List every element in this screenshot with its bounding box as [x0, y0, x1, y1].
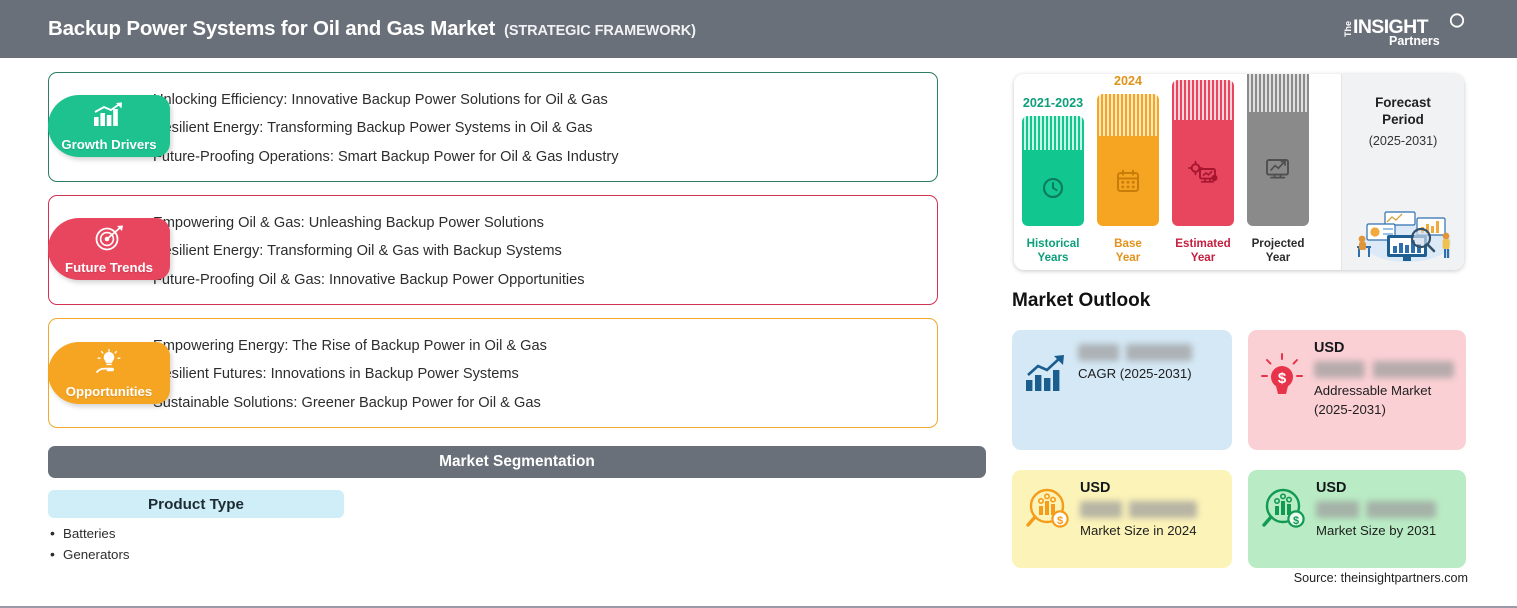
forecast-title-line1: Forecast: [1342, 95, 1464, 112]
bar-body: [1172, 80, 1234, 226]
badge-label: Future Trends: [65, 261, 153, 275]
outlook-card-addressable-market[interactable]: $ USD Addressable Market (2025-2031): [1248, 330, 1466, 450]
bar-caption-line2: Years: [1027, 251, 1080, 264]
outlook-card-value-blurred: [1080, 501, 1197, 518]
badge-label: Growth Drivers: [61, 138, 156, 152]
estimate-gear-icon: [1188, 160, 1218, 186]
bar-solid-segment: [1172, 120, 1234, 226]
bar-solid-segment: [1247, 112, 1309, 226]
outlook-card-value-blurred: [1316, 501, 1436, 518]
dollar-bulb-icon: $: [1260, 340, 1304, 419]
market-segmentation-title: Market Segmentation: [439, 453, 595, 471]
bar-body: [1022, 116, 1084, 226]
bar-stripe-segment: [1247, 74, 1309, 112]
logo-partners-text: Partners: [1389, 34, 1440, 48]
growth-drivers-card: Unlocking Efficiency: Innovative Backup …: [48, 72, 938, 182]
svg-text:$: $: [1293, 515, 1299, 527]
forecast-period-range: (2025-2031): [1342, 134, 1464, 148]
outlook-card-value-blurred: [1078, 344, 1192, 361]
page-title: Backup Power Systems for Oil and Gas Mar…: [48, 17, 495, 41]
list-item: Future-Proofing Oil & Gas: Innovative Ba…: [153, 266, 937, 294]
outlook-card-label: Addressable Market (2025-2031): [1314, 382, 1454, 419]
list-item: Unlocking Efficiency: Innovative Backup …: [153, 86, 937, 114]
bar-caption: Base Year: [1114, 237, 1142, 264]
segment-chip-product-type[interactable]: Product Type: [48, 490, 344, 518]
infographic-page: Backup Power Systems for Oil and Gas Mar…: [0, 0, 1517, 608]
outlook-card-market-size-2031[interactable]: $ USD Market Size by 2031: [1248, 470, 1466, 568]
outlook-card-cagr[interactable]: CAGR (2025-2031): [1012, 330, 1232, 450]
forecast-timeline-panel: 2021-2023 Historical Years 2024: [1014, 74, 1464, 270]
badge-opportunities[interactable]: Opportunities: [48, 342, 170, 404]
bar-caption-line2: Year: [1175, 251, 1230, 264]
list-item: Batteries: [50, 524, 130, 545]
logo-the-text: The: [1343, 21, 1353, 37]
bar-caption-line2: Year: [1114, 251, 1142, 264]
history-clock-icon: [1040, 175, 1066, 201]
svg-text:$: $: [1057, 515, 1063, 527]
outlook-card-value-blurred: [1314, 361, 1454, 378]
list-item: Resilient Futures: Innovations in Backup…: [153, 360, 937, 388]
header-title-group: Backup Power Systems for Oil and Gas Mar…: [48, 17, 696, 41]
bar-caption-line2: Year: [1252, 251, 1305, 264]
bar-stripe-segment: [1172, 80, 1234, 120]
badge-label: Opportunities: [66, 385, 152, 399]
bar-year-label: 2024: [1114, 74, 1142, 88]
projection-monitor-icon: [1264, 156, 1292, 182]
bar-caption-line1: Base: [1114, 237, 1142, 250]
bar-chart-arrow-up-icon: [1024, 340, 1068, 401]
future-trends-bullet-list: Empowering Oil & Gas: Unleashing Backup …: [49, 196, 937, 307]
forecast-period-panel: Forecast Period (2025-2031): [1341, 74, 1464, 270]
bar-caption: Estimated Year: [1175, 237, 1230, 264]
bar-caption: Historical Years: [1027, 237, 1080, 264]
opportunities-card: Empowering Energy: The Rise of Backup Po…: [48, 318, 938, 428]
bar-caption-line1: Projected: [1252, 237, 1305, 250]
list-item: Resilient Energy: Transforming Backup Po…: [153, 114, 937, 142]
outlook-card-market-size-2024[interactable]: $ USD Market Size in 2024: [1012, 470, 1232, 568]
bar-solid-segment: [1097, 136, 1159, 226]
target-dart-icon: [93, 225, 125, 256]
list-item: Generators: [50, 545, 130, 566]
bar-caption: Projected Year: [1252, 237, 1305, 264]
bar-stripe-segment: [1097, 94, 1159, 136]
outlook-card-label: Market Size by 2031: [1316, 522, 1436, 541]
source-attribution: Source: theinsightpartners.com: [1294, 571, 1468, 585]
bar-chart-growth-icon: [92, 102, 126, 133]
bar-year-label: 2021-2023: [1023, 96, 1083, 110]
bar-body: [1097, 94, 1159, 226]
outlook-card-label: Market Size in 2024: [1080, 522, 1197, 541]
segment-chip-label: Product Type: [148, 496, 244, 513]
forecast-period-title: Forecast Period: [1342, 95, 1464, 128]
list-item: Empowering Oil & Gas: Unleashing Backup …: [153, 209, 937, 237]
bar-caption-line1: Historical: [1027, 237, 1080, 250]
lightbulb-hand-icon: [93, 349, 125, 380]
growth-drivers-bullet-list: Unlocking Efficiency: Innovative Backup …: [49, 73, 937, 184]
list-item: Empowering Energy: The Rise of Backup Po…: [153, 332, 937, 360]
bar-stripe-segment: [1022, 116, 1084, 150]
list-item: Future-Proofing Operations: Smart Backup…: [153, 143, 937, 171]
outlook-card-label: CAGR (2025-2031): [1078, 365, 1192, 384]
opportunities-bullet-list: Empowering Energy: The Rise of Backup Po…: [49, 319, 937, 430]
outlook-card-usd: USD: [1316, 480, 1436, 497]
list-item: Sustainable Solutions: Greener Backup Po…: [153, 389, 937, 417]
bar-solid-segment: [1022, 150, 1084, 226]
analytics-dashboard-illustration: [1345, 194, 1463, 264]
badge-growth-drivers[interactable]: Growth Drivers: [48, 95, 170, 157]
bar-body: [1247, 74, 1309, 226]
bar-caption-line1: Estimated: [1175, 237, 1230, 250]
future-trends-card: Empowering Oil & Gas: Unleashing Backup …: [48, 195, 938, 305]
magnifier-chart-dollar-icon: $: [1024, 480, 1070, 541]
outlook-card-usd: USD: [1314, 340, 1454, 357]
list-item: Resilient Energy: Transforming Oil & Gas…: [153, 237, 937, 265]
page-subtitle: (STRATEGIC FRAMEWORK): [504, 23, 696, 39]
page-header: Backup Power Systems for Oil and Gas Mar…: [0, 0, 1517, 58]
badge-future-trends[interactable]: Future Trends: [48, 218, 170, 280]
outlook-card-usd: USD: [1080, 480, 1197, 497]
market-outlook-title: Market Outlook: [1012, 290, 1150, 312]
product-type-list: Batteries Generators: [50, 524, 130, 566]
insight-partners-logo[interactable]: The INSIGHT Partners: [1333, 11, 1473, 49]
market-segmentation-header: Market Segmentation: [48, 446, 986, 478]
svg-text:$: $: [1278, 370, 1287, 387]
forecast-title-line2: Period: [1342, 112, 1464, 129]
magnifier-chart-dollar-icon: $: [1260, 480, 1306, 541]
calendar-icon: [1115, 168, 1141, 194]
